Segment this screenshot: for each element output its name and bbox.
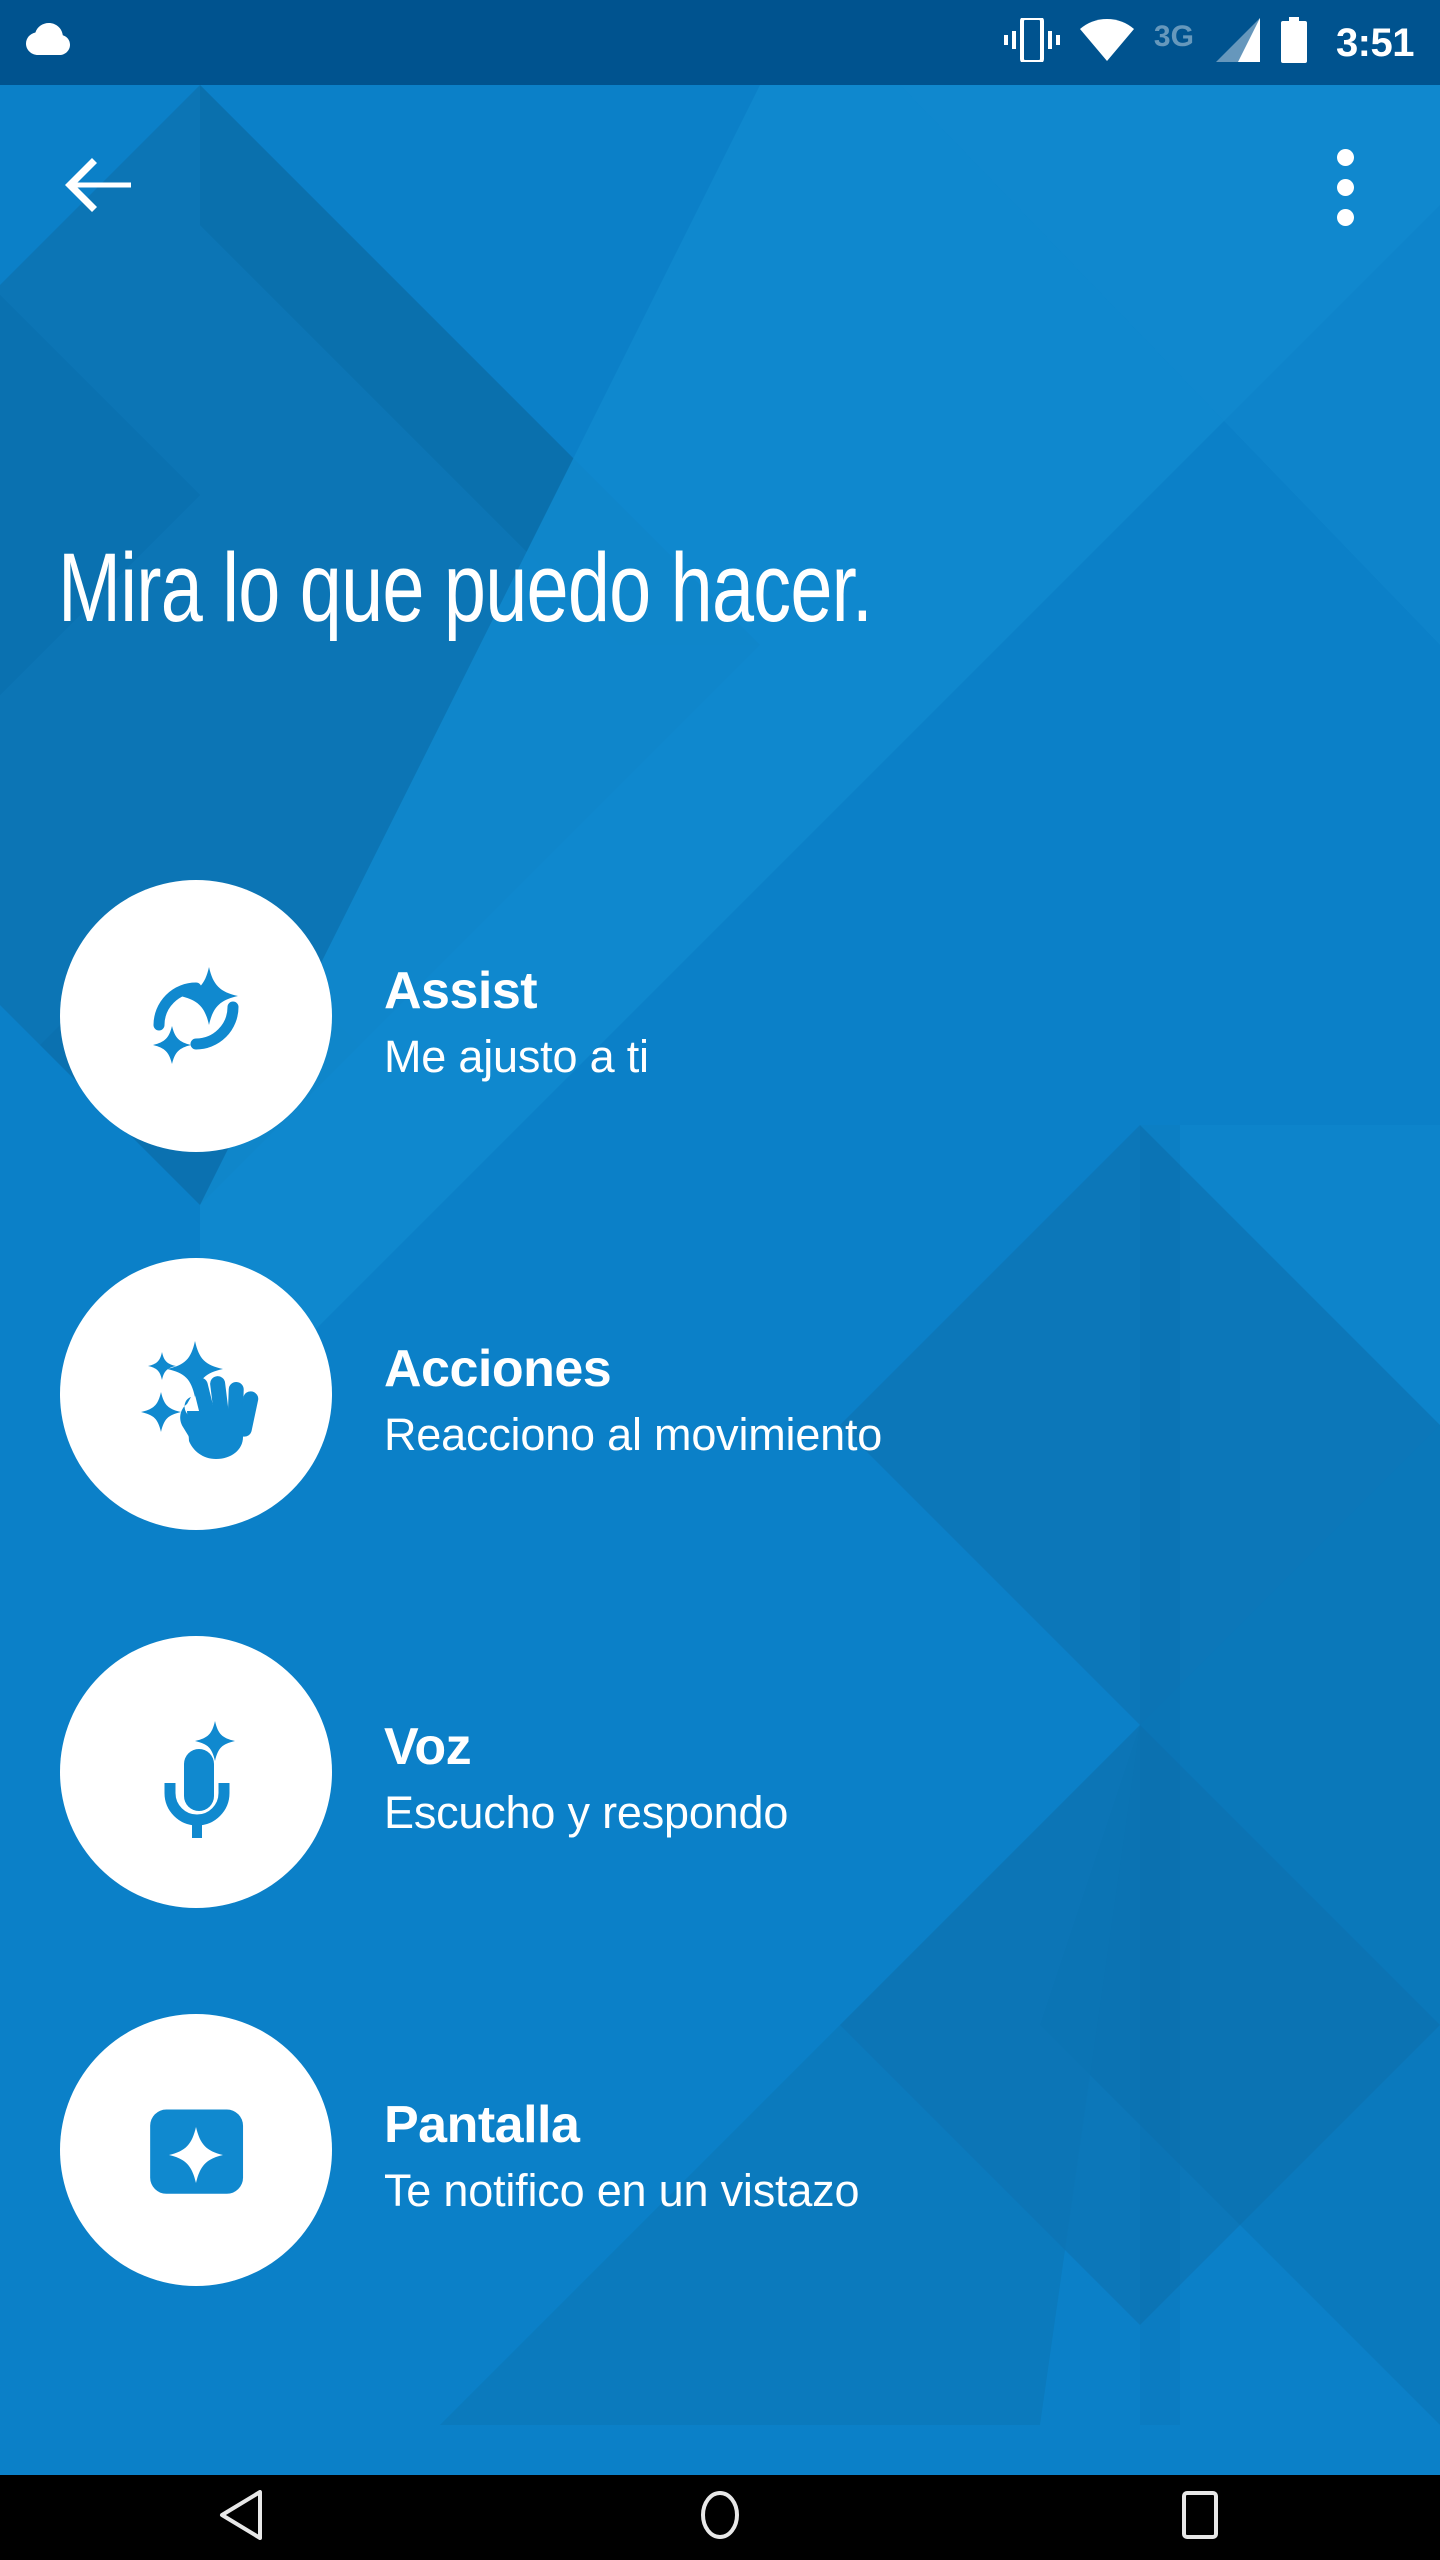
navigation-bar (0, 2475, 1440, 2560)
network-type-label: 3G (1154, 22, 1194, 52)
acciones-icon-badge (60, 1258, 332, 1530)
feature-text-pantalla: Pantalla Te notifico en un vistazo (384, 2014, 859, 2218)
voz-icon-badge (60, 1636, 332, 1908)
feature-item-voz[interactable]: Voz Escucho y respondo (0, 1636, 1440, 2014)
battery-icon (1280, 17, 1308, 68)
microphone-sparkle-icon (121, 1697, 271, 1847)
app-bar (0, 85, 1440, 285)
nav-back-button[interactable] (0, 2475, 480, 2560)
feature-text-assist: Assist Me ajusto a ti (384, 880, 649, 1084)
status-bar-left-icons (26, 23, 1004, 62)
feature-subtitle: Escucho y respondo (384, 1786, 788, 1840)
signal-bars-icon (1214, 18, 1260, 67)
triangle-back-icon (218, 2490, 262, 2545)
overflow-dot-icon (1337, 209, 1354, 226)
feature-item-assist[interactable]: Assist Me ajusto a ti (0, 880, 1440, 1258)
overflow-dot-icon (1337, 179, 1354, 196)
status-bar-clock: 3:51 (1336, 23, 1414, 63)
square-recents-icon (1181, 2490, 1219, 2545)
wifi-icon (1080, 19, 1134, 66)
feature-subtitle: Reacciono al movimiento (384, 1408, 882, 1462)
status-bar: 3G 3:51 (0, 0, 1440, 85)
pantalla-icon-badge (60, 2014, 332, 2286)
feature-title: Voz (384, 1718, 788, 1776)
overflow-menu-button[interactable] (1290, 125, 1400, 249)
assist-sparkle-icon (121, 941, 271, 1091)
feature-list: Assist Me ajusto a ti (0, 880, 1440, 2392)
phone-screen: 3G 3:51 (0, 0, 1440, 2560)
circle-home-icon (700, 2490, 740, 2545)
feature-title: Pantalla (384, 2096, 859, 2154)
arrow-left-icon (65, 157, 131, 218)
feature-subtitle: Te notifico en un vistazo (384, 2164, 859, 2218)
cloud-icon (26, 23, 70, 62)
feature-text-voz: Voz Escucho y respondo (384, 1636, 788, 1840)
status-bar-right-icons: 3G 3:51 (1004, 17, 1414, 68)
assist-icon-badge (60, 880, 332, 1152)
overflow-dot-icon (1337, 149, 1354, 166)
feature-text-acciones: Acciones Reacciono al movimiento (384, 1258, 882, 1462)
feature-subtitle: Me ajusto a ti (384, 1030, 649, 1084)
nav-recents-button[interactable] (960, 2475, 1440, 2560)
feature-title: Assist (384, 962, 649, 1020)
phone-sparkle-icon (121, 2075, 271, 2225)
vibrate-icon (1004, 18, 1060, 67)
feature-item-acciones[interactable]: Acciones Reacciono al movimiento (0, 1258, 1440, 1636)
back-button[interactable] (36, 125, 160, 249)
wave-hand-sparkle-icon (121, 1319, 271, 1469)
feature-title: Acciones (384, 1340, 882, 1398)
page-title: Mira lo que puedo hacer. (58, 536, 1103, 641)
nav-home-button[interactable] (480, 2475, 960, 2560)
feature-item-pantalla[interactable]: Pantalla Te notifico en un vistazo (0, 2014, 1440, 2392)
